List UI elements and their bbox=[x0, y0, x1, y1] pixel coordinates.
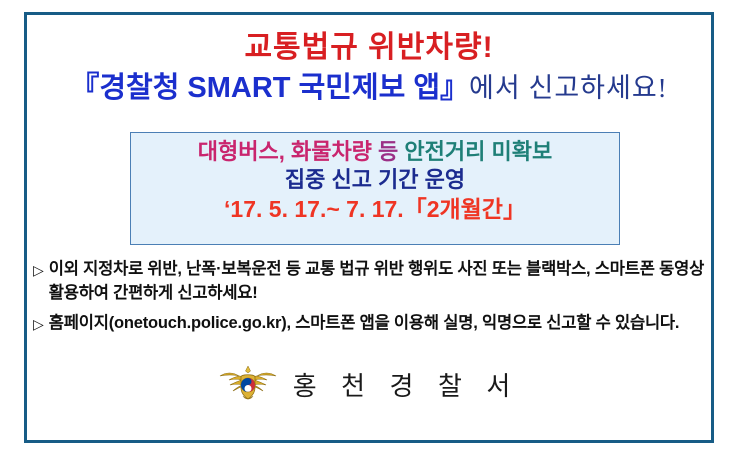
notice-topic-violation: 안전거리 미확보 bbox=[404, 139, 552, 164]
footer: 홍 천 경 찰 서 bbox=[27, 365, 711, 403]
bullet-text-report-methods: 이외 지정차로 위반, 난폭·보복운전 등 교통 법규 위반 행위도 사진 또는… bbox=[49, 258, 711, 306]
headline-call-to-action: 에서 신고하세요! bbox=[469, 73, 668, 103]
poster-frame: 교통법규 위반차량! 『경찰청 SMART 국민제보 앱』에서 신고하세요! 대… bbox=[24, 12, 714, 443]
headline-block: 교통법규 위반차량! 『경찰청 SMART 국민제보 앱』에서 신고하세요! bbox=[27, 31, 711, 105]
notice-campaign-line: 집중 신고 기간 운영 bbox=[131, 169, 619, 191]
notice-topic-vehicles: 대형버스, 화물차량 bbox=[198, 139, 378, 164]
headline-primary: 교통법규 위반차량! bbox=[27, 31, 711, 66]
korean-police-emblem-icon bbox=[219, 365, 277, 403]
triangle-bullet-icon: ▷ bbox=[33, 312, 49, 336]
list-item: ▷ 홈페이지(onetouch.police.go.kr), 스마트폰 앱을 이… bbox=[33, 312, 711, 336]
list-item: ▷ 이외 지정차로 위반, 난폭·보복운전 등 교통 법규 위반 행위도 사진 … bbox=[33, 258, 711, 306]
headline-secondary: 『경찰청 SMART 국민제보 앱』에서 신고하세요! bbox=[27, 72, 711, 105]
triangle-bullet-icon: ▷ bbox=[33, 258, 49, 282]
bullet-list: ▷ 이외 지정차로 위반, 난폭·보복운전 등 교통 법규 위반 행위도 사진 … bbox=[33, 258, 711, 342]
bullet-text-homepage-app: 홈페이지(onetouch.police.go.kr), 스마트폰 앱을 이용해… bbox=[49, 312, 711, 336]
headline-app-name: 『경찰청 SMART 국민제보 앱』 bbox=[70, 72, 469, 104]
notice-topic-etc: 등 bbox=[378, 139, 404, 164]
notice-topic-line: 대형버스, 화물차량 등 안전거리 미확보 bbox=[131, 141, 619, 163]
notice-period-line: ‘17. 5. 17.~ 7. 17.「2개월간」 bbox=[131, 198, 619, 221]
police-station-name: 홍 천 경 찰 서 bbox=[293, 366, 520, 403]
notice-box: 대형버스, 화물차량 등 안전거리 미확보 집중 신고 기간 운영 ‘17. 5… bbox=[130, 132, 620, 245]
